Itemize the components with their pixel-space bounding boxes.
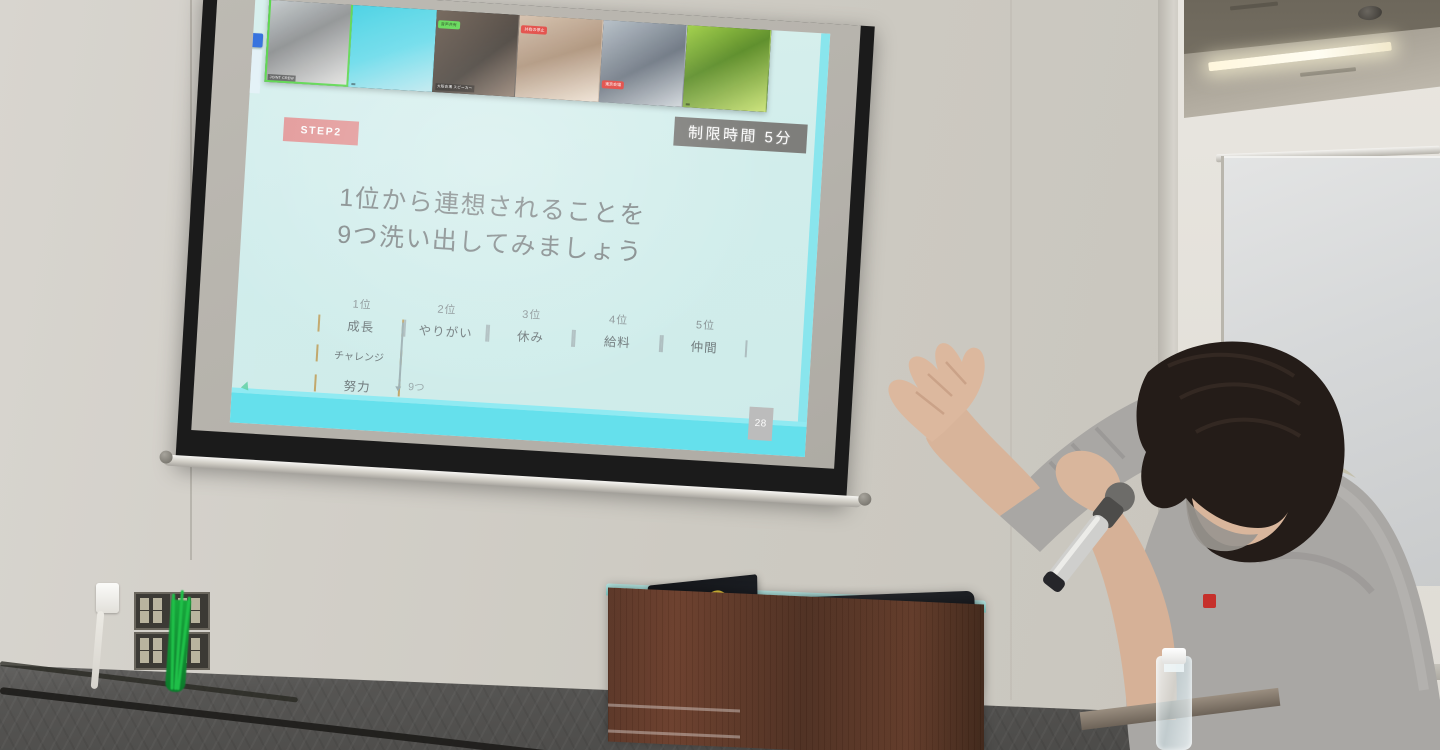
rank-header-1: 1位 [319, 294, 406, 315]
wall-whiteboard [1221, 156, 1440, 586]
step-badge: STEP2 [283, 117, 360, 145]
wooden-podium [608, 587, 984, 750]
word-chip: 仲間 [661, 334, 748, 358]
video-tile-label: JOINT CREW [267, 74, 296, 82]
slide-page-number: 28 [748, 407, 774, 441]
time-limit-badge: 制限時間 5分 [673, 117, 808, 154]
projected-slide: JOINT CREW 音声共有 大阪会場 スピーカー 共有の停止 東京会場 [230, 0, 830, 457]
video-chip-tokyo-venue: 東京会場 [602, 80, 624, 89]
pull-down-projection-screen: JOINT CREW 音声共有 大阪会場 スピーカー 共有の停止 東京会場 [174, 0, 875, 526]
count-arrow-head [395, 386, 401, 391]
video-tile-label [351, 83, 355, 85]
word-chip: 給料 [573, 329, 662, 353]
video-tile[interactable]: 共有の停止 [515, 9, 604, 102]
word-chip: やりがい [403, 319, 488, 343]
rank-header-2: 2位 [405, 299, 490, 320]
video-tile[interactable] [348, 0, 437, 92]
bottle-cap [1162, 648, 1186, 664]
rank-column-4: 給料 [569, 329, 662, 413]
video-tile[interactable]: 東京会場 [599, 14, 688, 107]
slide-headline: 1位から連想されることを 9つ洗い出してみましょう [336, 180, 647, 272]
rank-column-3: 休み [483, 324, 574, 408]
video-tile[interactable]: JOINT CREW [264, 0, 353, 87]
word-chip: 成長 [317, 313, 404, 337]
video-tile-label [686, 103, 690, 105]
rank-column-1: 成長 チャレンジ 努力 [314, 313, 405, 397]
wall-seam-right [1010, 0, 1012, 700]
baseboard-right [1178, 664, 1440, 680]
video-chip-stop-share[interactable]: 共有の停止 [521, 25, 547, 35]
podium-wood-grain [608, 587, 984, 750]
rank-column-5: 仲間 [657, 334, 748, 418]
video-chip-audio-share[interactable]: 音声共有 [438, 20, 460, 29]
video-tile[interactable]: 音声共有 大阪会場 スピーカー [432, 4, 521, 97]
wall-power-outlet [96, 583, 119, 613]
rank-header-5: 5位 [662, 314, 749, 335]
count-note: 9つ [408, 379, 425, 395]
rank-header-3: 3位 [488, 304, 575, 325]
presentation-room-scene: JOINT CREW 音声共有 大阪会場 スピーカー 共有の停止 東京会場 [0, 0, 1440, 750]
word-chip: 休み [487, 324, 574, 348]
video-tile-label: 大阪会場 スピーカー [435, 83, 475, 92]
word-chip: チャレンジ [316, 343, 403, 367]
rank-header-4: 4位 [574, 309, 663, 330]
video-tile[interactable] [683, 19, 772, 112]
network-panel [134, 592, 172, 630]
